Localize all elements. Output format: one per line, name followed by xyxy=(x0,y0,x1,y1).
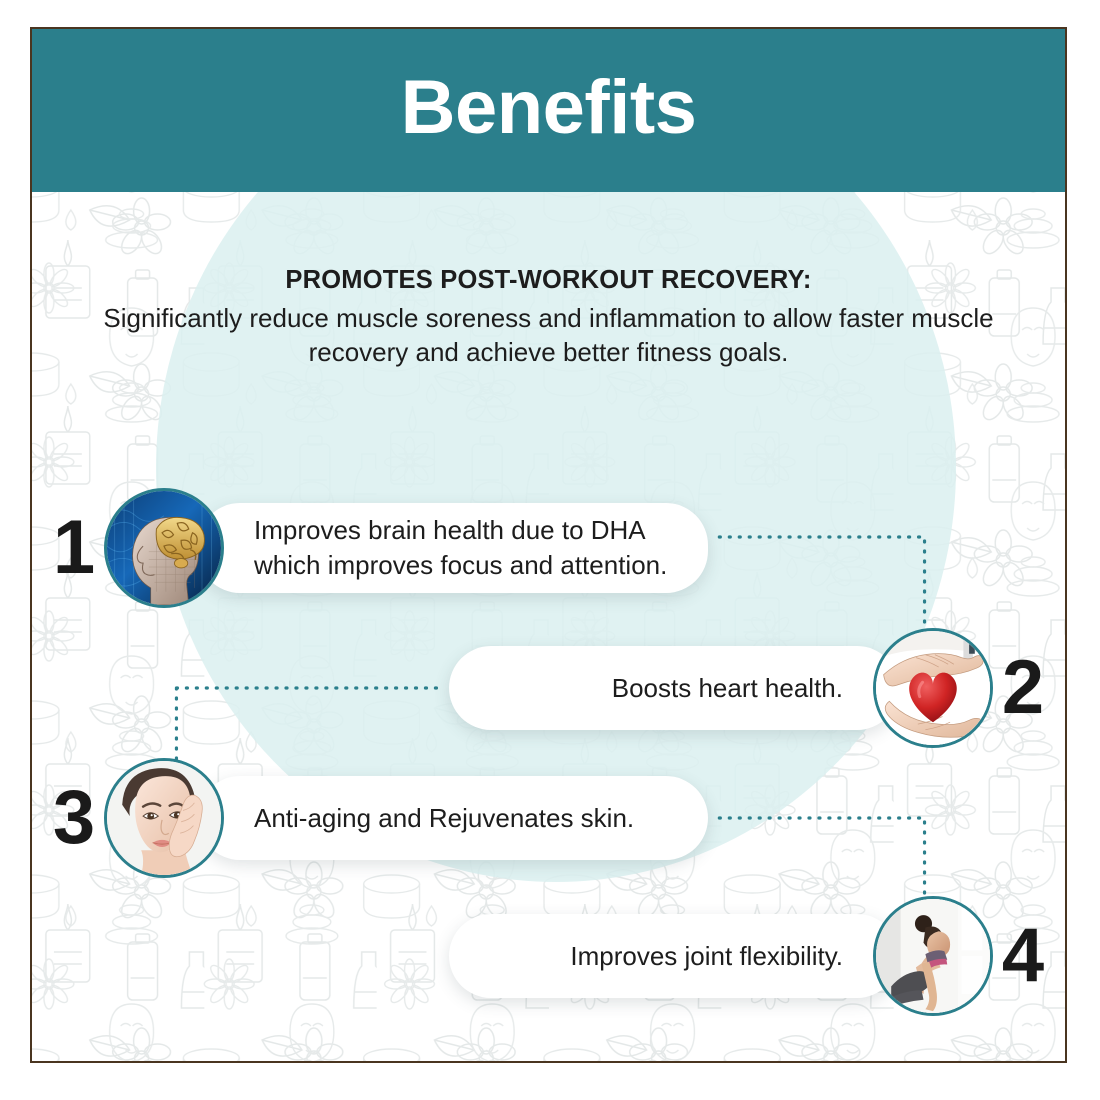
intro-heading: PROMOTES POST-WORKOUT RECOVERY: xyxy=(32,266,1065,295)
intro-body: Significantly reduce muscle soreness and… xyxy=(32,301,1065,370)
content-stage: PROMOTES POST-WORKOUT RECOVERY: Signific… xyxy=(32,192,1065,1063)
benefit-number-4: 4 xyxy=(999,918,1047,994)
header-bar: Benefits xyxy=(32,29,1065,192)
benefit-row-2[interactable]: 2 xyxy=(449,622,1047,754)
benefit-number-2: 2 xyxy=(999,650,1047,726)
benefit-card-3[interactable]: Anti-aging and Rejuvenates skin. xyxy=(198,776,708,860)
benefit-row-1[interactable]: 1 xyxy=(50,482,708,614)
benefit-number-3: 3 xyxy=(50,780,98,856)
yoga-pose-icon xyxy=(873,896,993,1016)
benefit-text-2: Boosts heart health. xyxy=(612,671,843,706)
benefit-text-1: Improves brain health due to DHA which i… xyxy=(254,513,674,583)
woman-face-icon xyxy=(104,758,224,878)
benefit-card-4[interactable]: Improves joint flexibility. xyxy=(449,914,899,998)
benefit-card-2[interactable]: Boosts heart health. xyxy=(449,646,899,730)
hands-heart-icon xyxy=(873,628,993,748)
intro-block: PROMOTES POST-WORKOUT RECOVERY: Signific… xyxy=(32,266,1065,370)
benefit-number-1: 1 xyxy=(50,510,98,586)
page-title: Benefits xyxy=(401,70,697,152)
infographic-poster: Benefits PROMOTES POST-WORKOUT RECOVERY:… xyxy=(30,27,1067,1063)
benefit-row-4[interactable]: 4 xyxy=(449,890,1047,1022)
benefit-row-3[interactable]: 3 xyxy=(50,752,708,884)
benefit-card-1[interactable]: Improves brain health due to DHA which i… xyxy=(198,503,708,593)
benefit-text-4: Improves joint flexibility. xyxy=(570,939,843,974)
benefit-text-3: Anti-aging and Rejuvenates skin. xyxy=(254,801,634,836)
brain-head-icon xyxy=(104,488,224,608)
